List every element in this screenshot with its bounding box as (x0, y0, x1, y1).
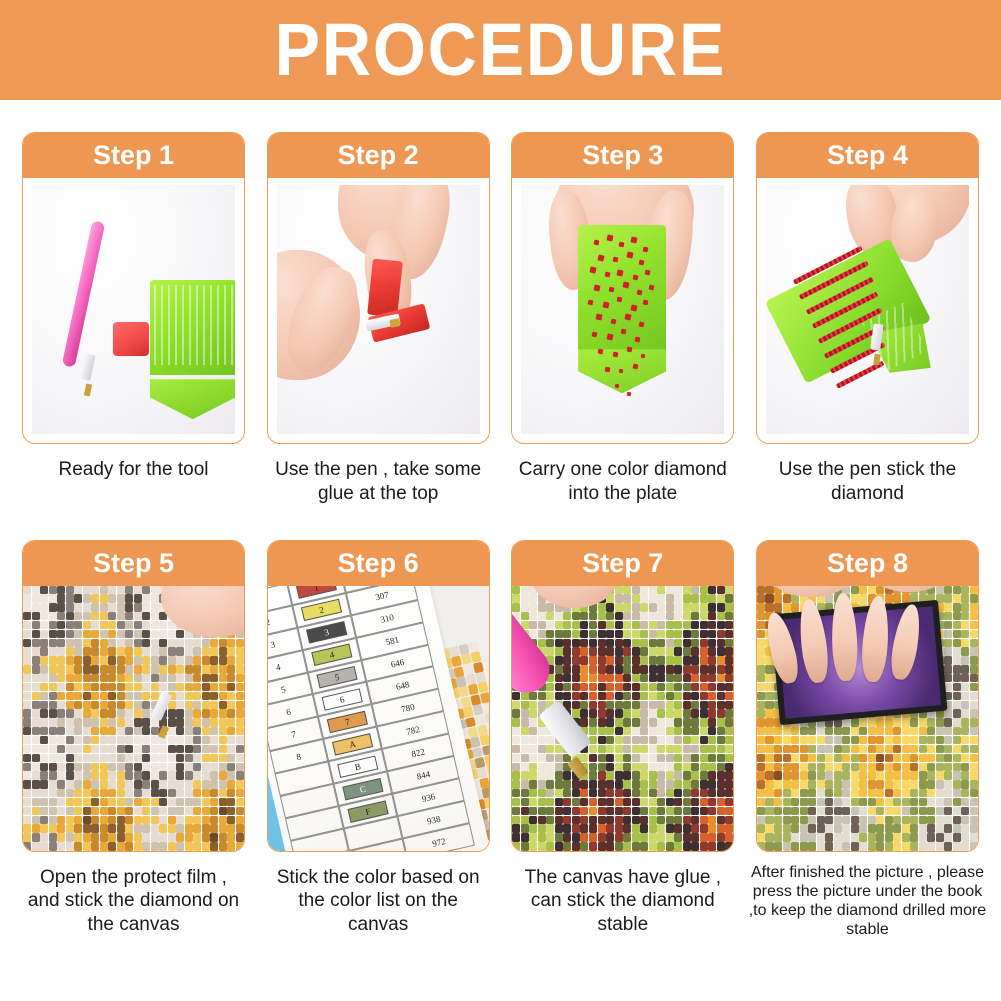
step-cell-5: Step 5 Open the protect film , and stick… (22, 540, 245, 940)
step-header-label: Step 4 (827, 142, 908, 169)
glue-canvas-photo (512, 586, 733, 851)
page-title: PROCEDURE (275, 13, 727, 87)
step-caption-2: Use the pen , take some glue at the top (267, 458, 490, 506)
steps-row-1: Step 1 (22, 132, 979, 506)
step-body-4 (757, 178, 978, 443)
step-caption-1: Ready for the tool (22, 458, 245, 482)
step-card-8[interactable]: Step 8 (756, 540, 979, 852)
step-header-label: Step 3 (582, 142, 663, 169)
step-cell-6: Step 6 113002230733310445815564666648777… (267, 540, 490, 940)
step-cell-4: Step 4 (756, 132, 979, 506)
step-cell-1: Step 1 (22, 132, 245, 506)
step-caption-3: Carry one color diamond into the plate (511, 458, 734, 506)
step-body-6: 113002230733310445815564666648777808A782… (268, 586, 489, 851)
step-body-3 (512, 178, 733, 443)
step-caption-5: Open the protect film , and stick the di… (22, 866, 245, 937)
pick-diamond-photo (766, 185, 969, 434)
step-body-1 (23, 178, 244, 443)
step-header-5: Step 5 (23, 541, 244, 586)
step-header-label: Step 7 (582, 550, 663, 577)
step-caption-7: The canvas have glue , can stick the dia… (511, 866, 734, 937)
step-header-label: Step 2 (338, 142, 419, 169)
pour-diamonds-photo (521, 185, 724, 434)
step-cell-8: Step 8 (756, 540, 979, 940)
step-header-1: Step 1 (23, 133, 244, 178)
step-card-2[interactable]: Step 2 (267, 132, 490, 444)
tool-kit-photo (32, 185, 235, 434)
step-header-6: Step 6 (268, 541, 489, 586)
step-body-7 (512, 586, 733, 851)
page-banner: PROCEDURE (0, 0, 1001, 100)
color-chart-photo: 113002230733310445815564666648777808A782… (268, 586, 489, 851)
step-card-5[interactable]: Step 5 (22, 540, 245, 852)
step-card-4[interactable]: Step 4 (756, 132, 979, 444)
step-cell-3: Step 3 (511, 132, 734, 506)
step-header-8: Step 8 (757, 541, 978, 586)
step-caption-4: Use the pen stick the diamond (756, 458, 979, 506)
diamond-scatter (521, 185, 724, 434)
step-header-7: Step 7 (512, 541, 733, 586)
pen-taking-glue-photo (277, 185, 480, 434)
step-cell-7: Step 7 The canvas have glue , can stick … (511, 540, 734, 940)
step-header-label: Step 8 (827, 550, 908, 577)
step-caption-8: After finished the picture , please pres… (748, 863, 986, 940)
step-card-6[interactable]: Step 6 113002230733310445815564666648777… (267, 540, 490, 852)
step-card-7[interactable]: Step 7 (511, 540, 734, 852)
step-body-8 (757, 586, 978, 851)
press-with-book-photo (757, 586, 978, 851)
steps-grid: Step 1 (0, 132, 1001, 939)
step-card-1[interactable]: Step 1 (22, 132, 245, 444)
stick-on-canvas-photo (23, 586, 244, 851)
step-header-label: Step 1 (93, 142, 174, 169)
step-header-label: Step 6 (338, 550, 419, 577)
step-header-label: Step 5 (93, 550, 174, 577)
step-header-4: Step 4 (757, 133, 978, 178)
step-caption-6: Stick the color based on the color list … (267, 866, 490, 937)
step-body-2 (268, 178, 489, 443)
step-header-3: Step 3 (512, 133, 733, 178)
step-cell-2: Step 2 (267, 132, 490, 506)
step-card-3[interactable]: Step 3 (511, 132, 734, 444)
step-header-2: Step 2 (268, 133, 489, 178)
steps-row-2: Step 5 Open the protect film , and stick… (22, 540, 979, 940)
step-body-5 (23, 586, 244, 851)
